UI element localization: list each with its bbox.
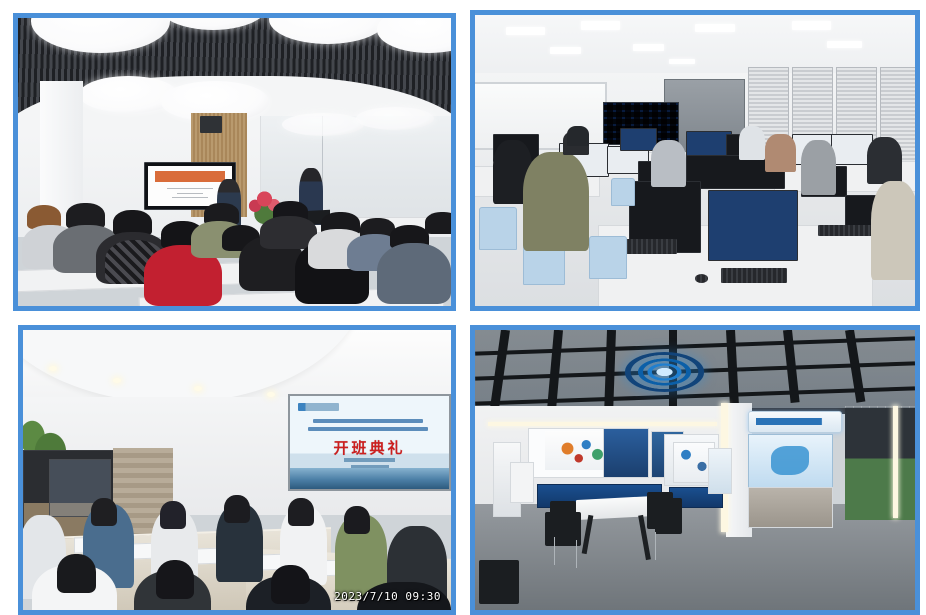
ceiling-light-panel	[550, 47, 581, 54]
ceiling-spotlight	[267, 392, 275, 397]
ceiling-speaker	[200, 116, 222, 133]
office-chair	[479, 560, 519, 605]
exhibit-board	[603, 428, 649, 478]
projection-screen: 开班典礼	[288, 394, 450, 490]
ceiling-spotlight	[113, 378, 121, 383]
chair-leg	[576, 540, 577, 568]
slide-title-banner	[155, 171, 225, 182]
ceiling-light-dome	[282, 113, 364, 136]
led-light-strip	[893, 406, 898, 518]
photo-tile-computer-lab[interactable]	[470, 10, 920, 311]
meeting-attendee	[160, 501, 186, 529]
photo-tile-lecture-hall[interactable]	[13, 13, 456, 311]
exhibit-board	[708, 448, 732, 495]
office-chair	[655, 498, 681, 534]
ceiling-light-panel	[506, 27, 546, 36]
photo-timestamp: 2023/7/10 09:30	[334, 590, 441, 603]
photo-image-computer-lab	[475, 15, 915, 306]
slide-subtitle-line	[344, 458, 395, 462]
meeting-attendee	[288, 498, 314, 526]
slide-title-line	[308, 427, 428, 432]
slide-city-image	[290, 468, 448, 488]
factory-area-behind	[845, 408, 915, 520]
audience-head	[425, 212, 451, 234]
audience-head	[377, 243, 451, 304]
lab-student	[523, 152, 589, 251]
lab-student	[651, 140, 686, 187]
ceiling-light-panel	[827, 41, 862, 48]
meeting-attendee	[271, 565, 310, 604]
keyboard	[721, 268, 787, 283]
keyboard	[818, 225, 875, 237]
ceiling-light-panel	[695, 24, 735, 33]
exhibit-sign-text	[756, 418, 834, 425]
meeting-attendee	[224, 495, 250, 523]
slide-text-line	[167, 188, 214, 189]
lab-stool	[611, 178, 635, 206]
slide-headline: 开班典礼	[290, 437, 448, 458]
computer-monitor	[708, 190, 798, 262]
audience-group	[18, 197, 451, 306]
exhibit-board	[510, 462, 534, 503]
computer-monitor	[620, 128, 657, 150]
meeting-attendee	[344, 506, 370, 534]
ceiling-light-panel	[792, 21, 832, 30]
exhibit-sign-header	[748, 411, 842, 433]
computer-mouse	[695, 274, 708, 283]
ceiling-light-panel	[669, 59, 695, 65]
lab-student	[739, 126, 765, 161]
ceiling-light-panel	[581, 21, 621, 30]
lab-stool	[589, 236, 626, 279]
slide-title-line	[313, 419, 424, 424]
chair-leg	[554, 537, 555, 565]
meeting-attendee	[57, 554, 96, 593]
lab-stool	[479, 207, 516, 250]
exhibit-kiosk-base	[748, 487, 834, 528]
chair-leg	[655, 532, 656, 560]
lab-student	[567, 126, 589, 146]
meeting-attendee	[91, 498, 117, 526]
lab-student	[801, 140, 836, 195]
ceiling-halo-light-icon	[625, 352, 704, 391]
photo-image-meeting-room: 开班典礼	[23, 330, 451, 610]
slide-logo	[298, 403, 339, 411]
photo-image-lecture-hall	[18, 18, 451, 306]
photo-image-exhibition-hall	[475, 330, 915, 610]
led-light-strip	[488, 422, 717, 426]
lab-student	[871, 181, 915, 280]
photo-collage: 开班典礼	[0, 0, 926, 615]
china-map-shape-icon	[771, 446, 809, 475]
lab-student	[765, 134, 796, 172]
slide-subtitle-line	[351, 465, 389, 469]
slide-text-line	[177, 193, 204, 194]
exhibit-map-display	[748, 434, 834, 492]
ceiling-light-panel	[633, 44, 664, 51]
photo-tile-exhibition-hall[interactable]	[470, 325, 920, 615]
photo-tile-meeting-room[interactable]: 开班典礼	[18, 325, 456, 615]
meeting-attendee	[156, 560, 195, 599]
lab-student	[867, 137, 902, 184]
